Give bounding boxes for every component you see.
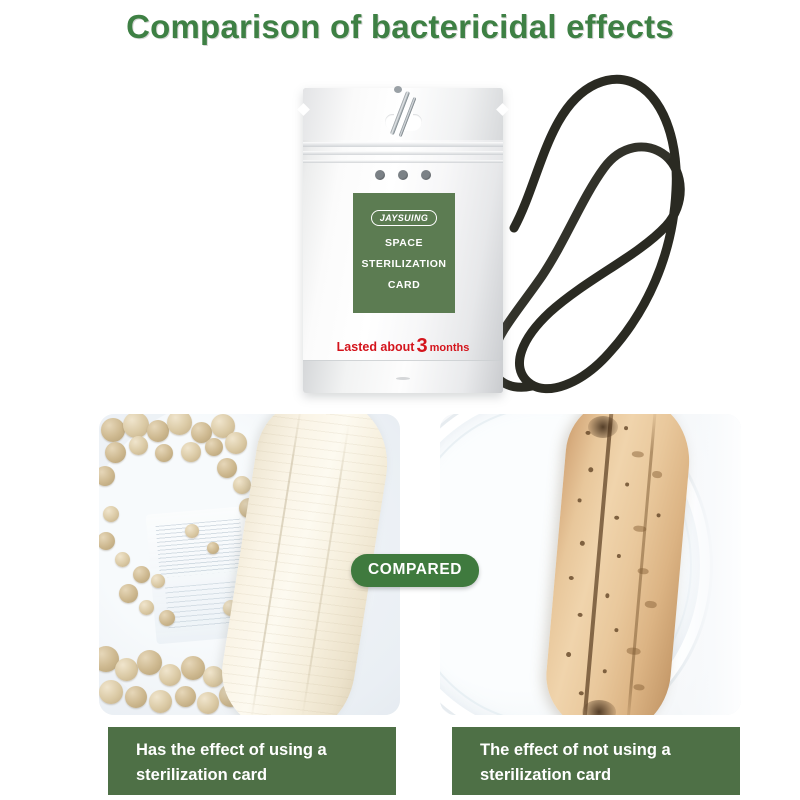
hero-product-area: JAYSUING SPACE STERILIZATION CARD Lasted… xyxy=(0,60,800,405)
granule xyxy=(159,610,175,626)
zipper-line-1 xyxy=(303,142,503,147)
banana-speck xyxy=(569,576,574,580)
caption-right: The effect of not using a sterilization … xyxy=(452,727,740,795)
granule xyxy=(197,692,219,714)
granule xyxy=(149,690,172,713)
banana-speck xyxy=(566,652,571,657)
claim-number: 3 xyxy=(416,335,427,357)
banana-speck xyxy=(580,541,585,546)
banana-speck xyxy=(614,515,619,519)
granule xyxy=(115,552,130,567)
banana-speck xyxy=(633,525,646,532)
banana-speck xyxy=(617,554,621,558)
hanger-head-icon xyxy=(394,86,402,93)
caption-right-line-1: The effect of not using a xyxy=(480,738,740,763)
zipper-line-2 xyxy=(303,151,503,155)
product-name-line-2: STERILIZATION xyxy=(361,258,446,270)
caption-left: Has the effect of using a sterilization … xyxy=(108,727,396,795)
banana-speck xyxy=(637,568,648,575)
granule xyxy=(139,600,154,615)
product-name-line-1: SPACE xyxy=(385,237,423,249)
granule xyxy=(133,566,150,583)
granule xyxy=(203,666,224,687)
banana-speck xyxy=(614,628,618,632)
product-comparison-page: Comparison of bactericidal effects xyxy=(0,0,800,800)
granule xyxy=(151,574,165,588)
granule xyxy=(155,444,173,462)
granule xyxy=(105,442,126,463)
package-dot xyxy=(398,170,408,180)
granule xyxy=(233,476,251,494)
package-dots xyxy=(303,170,503,180)
banana-speck xyxy=(633,684,644,691)
granule xyxy=(103,506,119,522)
product-name-line-3: CARD xyxy=(388,279,420,291)
banana-speck xyxy=(626,647,641,655)
banana-speck xyxy=(652,471,663,479)
compared-badge: COMPARED xyxy=(351,554,479,587)
granule xyxy=(99,466,115,486)
claim-prefix: Lasted about xyxy=(337,340,415,354)
granule xyxy=(181,656,205,680)
banana-speck xyxy=(632,451,644,458)
zipper-line-3 xyxy=(303,160,503,163)
package-dot xyxy=(375,170,385,180)
caption-left-line-1: Has the effect of using a xyxy=(136,738,396,763)
granule xyxy=(137,650,162,675)
granule xyxy=(217,458,237,478)
granule xyxy=(175,686,196,707)
granule xyxy=(181,442,201,462)
page-title: Comparison of bactericidal effects xyxy=(0,8,800,46)
package-header-strip xyxy=(303,88,503,140)
banana-speck xyxy=(579,691,584,695)
granule xyxy=(207,542,219,554)
banana-speck xyxy=(625,482,629,486)
package-notch-left xyxy=(297,103,310,116)
banana-speck xyxy=(656,513,660,517)
granule xyxy=(119,584,138,603)
brand-name: JAYSUING xyxy=(371,210,438,226)
banana-speck xyxy=(644,600,657,608)
granule xyxy=(159,664,181,686)
granule xyxy=(225,432,247,454)
caption-left-line-2: sterilization card xyxy=(136,763,396,788)
banana-speck xyxy=(603,669,607,673)
banana-speck xyxy=(577,498,581,502)
banana-speck xyxy=(624,426,628,430)
photo-without-sterilization-card xyxy=(440,414,741,715)
granule xyxy=(101,418,125,442)
granule xyxy=(167,414,192,435)
package-dot xyxy=(421,170,431,180)
banana-speck xyxy=(588,467,593,472)
caption-right-line-2: sterilization card xyxy=(480,763,740,788)
granule xyxy=(115,658,138,681)
granule xyxy=(125,686,147,708)
granule xyxy=(205,438,223,456)
duration-claim: Lasted about3months xyxy=(303,335,503,358)
banana-speck xyxy=(577,613,582,617)
granule xyxy=(129,436,148,455)
claim-suffix: months xyxy=(430,342,470,354)
product-label: JAYSUING SPACE STERILIZATION CARD xyxy=(353,193,455,313)
banana-speck xyxy=(605,593,609,598)
package-bottom-gusset xyxy=(303,360,503,393)
granule xyxy=(185,524,199,538)
granule xyxy=(123,414,149,438)
product-package: JAYSUING SPACE STERILIZATION CARD Lasted… xyxy=(303,88,503,393)
granule xyxy=(99,680,123,704)
granule xyxy=(147,420,169,442)
granule xyxy=(99,532,115,550)
banana-tip-top xyxy=(588,416,618,438)
